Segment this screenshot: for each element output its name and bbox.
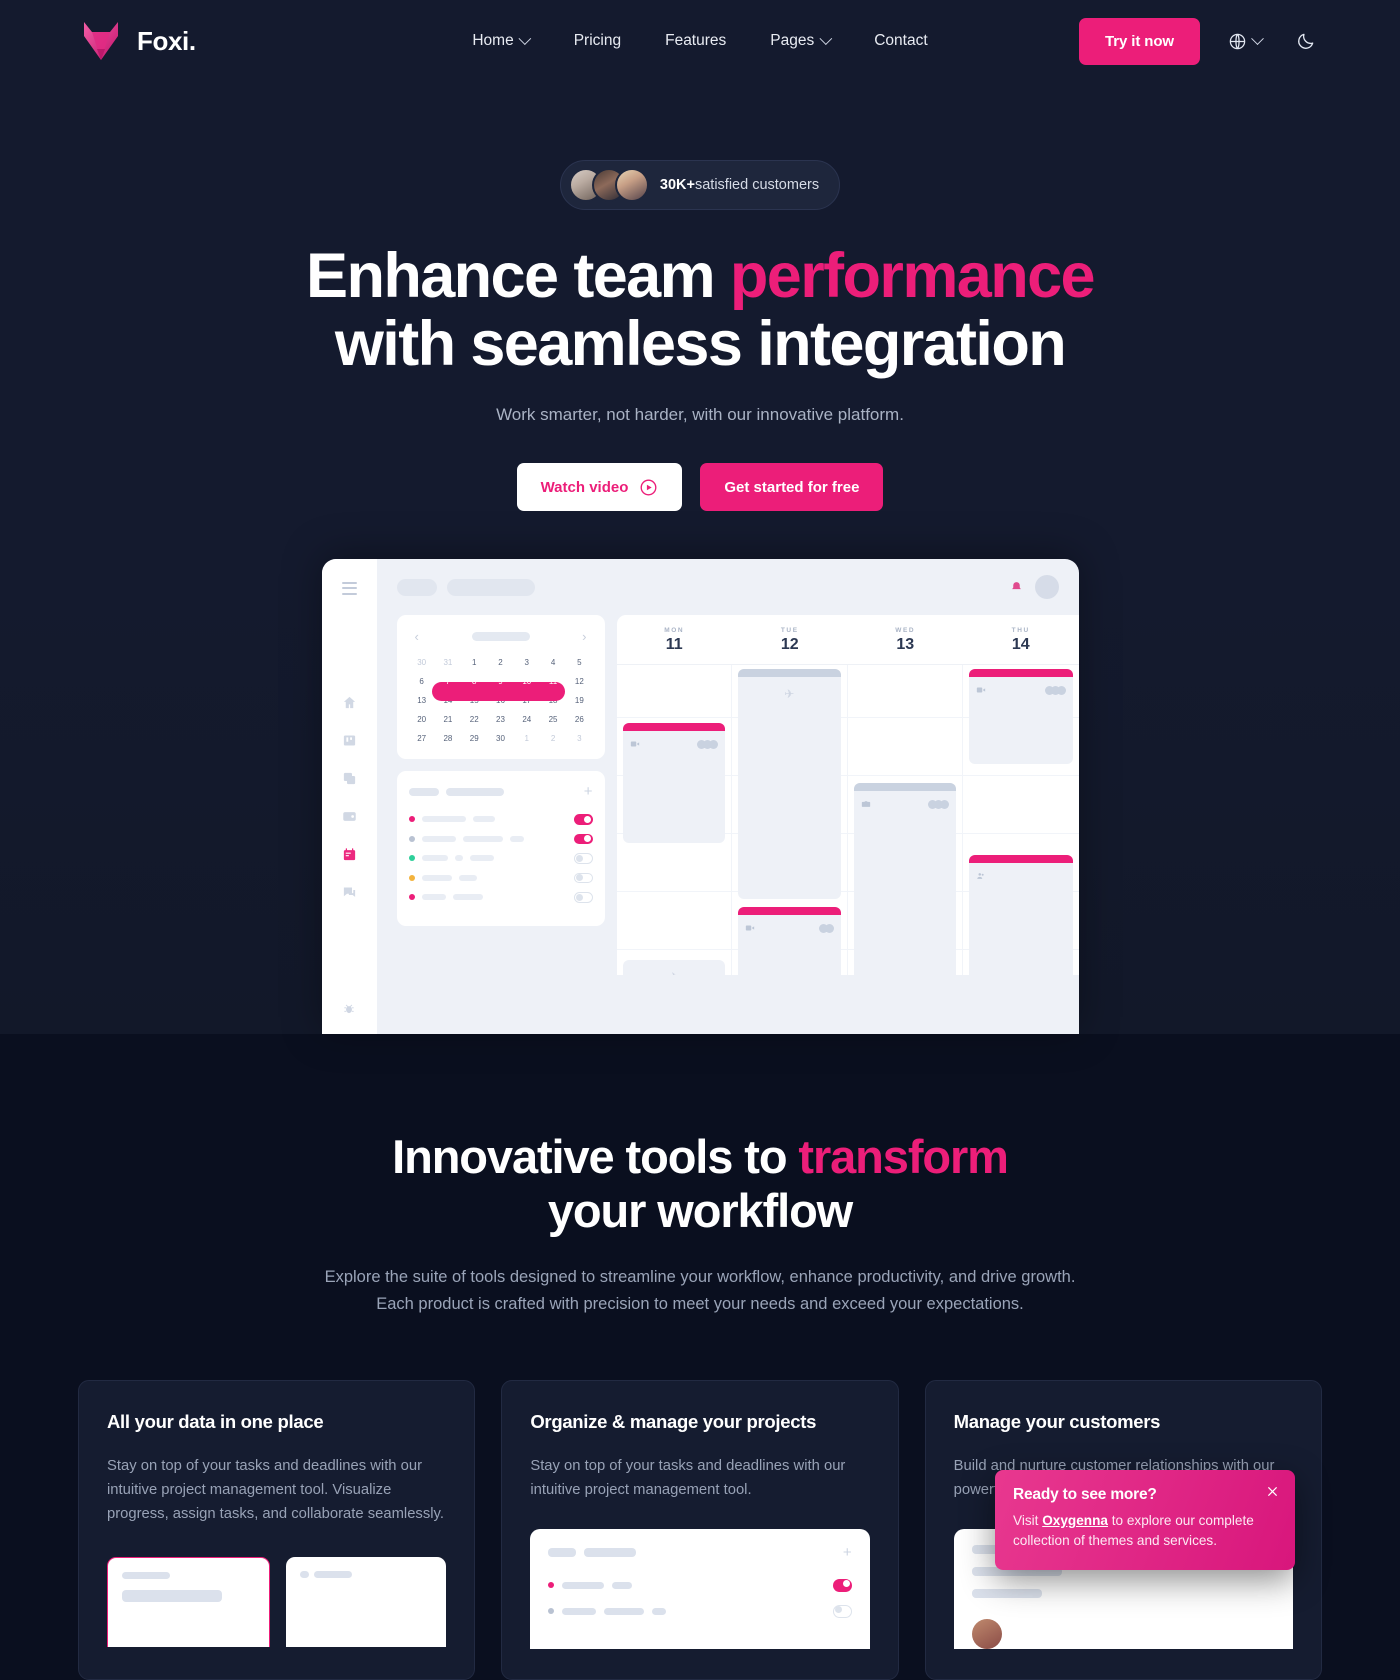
feature-card-mockup <box>107 1557 446 1647</box>
placeholder-pill <box>409 788 439 796</box>
week-day-number: 11 <box>617 636 733 654</box>
nav-item-features-label: Features <box>665 32 726 50</box>
nav-item-contact[interactable]: Contact <box>870 24 931 58</box>
week-day-header: MON11 <box>617 615 733 664</box>
hero-cta-row: Watch video Get started for free <box>0 463 1400 511</box>
task-row[interactable] <box>409 853 593 864</box>
task-row[interactable] <box>409 814 593 825</box>
event-card[interactable] <box>854 783 957 975</box>
calendar-day[interactable]: 7 <box>435 677 461 686</box>
task-placeholder-bar <box>463 836 503 842</box>
event-card[interactable]: ✈ <box>623 960 726 975</box>
calendar-month-placeholder <box>472 632 530 641</box>
moon-icon <box>1296 31 1316 51</box>
calendar-day[interactable]: 31 <box>435 658 461 667</box>
nav-links: Home Pricing Features Pages Contact <box>468 24 931 58</box>
week-day-header: WED13 <box>848 615 964 664</box>
wallet-icon[interactable] <box>342 809 357 824</box>
calendar-day[interactable]: 24 <box>514 715 540 724</box>
nav-right-actions: Try it now <box>1079 18 1322 65</box>
airplane-icon: ✈ <box>623 960 726 975</box>
task-placeholder-bar <box>422 875 452 881</box>
task-placeholder-bar <box>510 836 524 842</box>
calendar-day[interactable]: 13 <box>409 696 435 705</box>
calendar-day[interactable]: 3 <box>566 734 592 743</box>
features-subtitle-line1: Explore the suite of tools designed to s… <box>325 1268 1076 1286</box>
calendar-day[interactable]: 30 <box>409 658 435 667</box>
hero-title-accent: performance <box>730 241 1094 311</box>
hero-subtitle: Work smarter, not harder, with our innov… <box>0 405 1400 425</box>
close-popup-button[interactable] <box>1264 1483 1281 1504</box>
week-column-wed <box>848 665 964 975</box>
week-column-mon: ✈ <box>617 665 733 975</box>
calendar-day[interactable]: 6 <box>409 677 435 686</box>
feature-card-title: Organize & manage your projects <box>530 1411 869 1433</box>
features-section: Innovative tools to transform your workf… <box>0 1034 1400 1680</box>
promo-popup-body: Visit Oxygenna to explore our complete c… <box>1013 1511 1277 1552</box>
features-title-line2: your workflow <box>548 1184 852 1237</box>
mockup-week-schedule: MON11TUE12WED13THU14 <box>617 615 1079 975</box>
calendar-day[interactable]: 11 <box>540 677 566 686</box>
language-selector[interactable] <box>1222 26 1268 57</box>
avatar-group <box>569 168 649 202</box>
calendar-day[interactable]: 12 <box>566 677 592 686</box>
mockup-main: ‹ › 303112345678910111213141516171819202… <box>377 559 1079 1034</box>
week-day-header: THU14 <box>963 615 1079 664</box>
close-icon <box>1266 1485 1279 1498</box>
briefcase-icon <box>861 799 871 809</box>
task-status-dot <box>409 836 415 842</box>
nav-item-pricing[interactable]: Pricing <box>570 24 625 58</box>
promo-text-before: Visit <box>1013 1513 1042 1528</box>
chevron-down-icon <box>519 32 532 45</box>
promo-popup-title: Ready to see more? <box>1013 1486 1277 1504</box>
task-row[interactable] <box>409 834 593 845</box>
features-subtitle: Explore the suite of tools designed to s… <box>280 1264 1120 1317</box>
placeholder-pill <box>397 579 437 596</box>
placeholder-pill <box>446 788 504 796</box>
calendar-day[interactable]: 29 <box>461 734 487 743</box>
chat-icon[interactable] <box>342 885 357 900</box>
calendar-day[interactable]: 1 <box>461 658 487 667</box>
week-grid: ✈ ✈ <box>617 665 1079 975</box>
task-toggle[interactable] <box>574 814 593 825</box>
play-circle-icon <box>639 478 658 497</box>
calendar-day[interactable]: 1 <box>514 734 540 743</box>
week-column-tue: ✈ <box>732 665 848 975</box>
add-task-icon[interactable]: + <box>584 784 593 799</box>
event-card[interactable] <box>969 855 1073 975</box>
calendar-header: ‹ › <box>409 629 593 658</box>
mockup-calendar: ‹ › 303112345678910111213141516171819202… <box>397 615 605 759</box>
mockup-topbar <box>377 559 1079 615</box>
features-title-accent: transform <box>798 1130 1007 1183</box>
nav-item-features[interactable]: Features <box>661 24 730 58</box>
calendar-day[interactable]: 25 <box>540 715 566 724</box>
week-column-thu <box>963 665 1079 975</box>
customer-avatar <box>972 1619 1002 1649</box>
video-icon <box>976 685 986 695</box>
nav-item-pricing-label: Pricing <box>574 32 621 50</box>
calendar-day[interactable]: 3 <box>514 658 540 667</box>
feature-card-body: Stay on top of your tasks and deadlines … <box>107 1455 446 1527</box>
kanban-icon[interactable] <box>342 733 357 748</box>
airplane-icon: ✈ <box>738 677 841 711</box>
mockup-body: ‹ › 303112345678910111213141516171819202… <box>377 615 1079 975</box>
task-placeholder-bar <box>470 855 494 861</box>
calendar-day[interactable]: 2 <box>540 734 566 743</box>
task-placeholder-bar <box>422 836 456 842</box>
calendar-day[interactable]: 21 <box>435 715 461 724</box>
task-toggle[interactable] <box>574 853 593 864</box>
oxygenna-link[interactable]: Oxygenna <box>1042 1513 1108 1528</box>
week-header: MON11TUE12WED13THU14 <box>617 615 1079 665</box>
task-status-dot <box>409 875 415 881</box>
customer-label: satisfied customers <box>695 177 819 193</box>
mockup-left-column: ‹ › 303112345678910111213141516171819202… <box>397 615 605 975</box>
mockup-panel <box>286 1557 447 1647</box>
get-started-button[interactable]: Get started for free <box>700 463 883 511</box>
theme-toggle-button[interactable] <box>1290 25 1322 57</box>
week-day-number: 13 <box>848 636 964 654</box>
chevron-down-icon <box>1251 32 1264 45</box>
user-avatar[interactable] <box>1035 575 1059 599</box>
watch-video-button[interactable]: Watch video <box>517 463 683 511</box>
event-card[interactable] <box>969 669 1073 764</box>
hero-title-line2: with seamless integration <box>335 309 1065 379</box>
week-day-name: THU <box>963 627 1079 634</box>
calendar-next-icon[interactable]: › <box>582 629 586 644</box>
task-placeholder-bar <box>473 816 495 822</box>
hero-title-line1-plain: Enhance team <box>306 241 730 311</box>
week-day-name: MON <box>617 627 733 634</box>
calendar-day[interactable]: 28 <box>435 734 461 743</box>
nav-item-home[interactable]: Home <box>468 24 533 58</box>
feature-card-data[interactable]: All your data in one place Stay on top o… <box>78 1380 475 1680</box>
calendar-prev-icon[interactable]: ‹ <box>415 629 419 644</box>
event-card[interactable]: ✈ <box>738 669 841 899</box>
calendar-day[interactable]: 27 <box>409 734 435 743</box>
feature-card-body: Stay on top of your tasks and deadlines … <box>530 1455 869 1503</box>
video-icon <box>630 739 640 749</box>
badge-text: 30K+satisfied customers <box>660 177 819 193</box>
task-placeholder-bar <box>459 875 477 881</box>
users-icon <box>976 871 986 881</box>
calendar-day[interactable]: 19 <box>566 696 592 705</box>
task-placeholder-bar <box>422 816 466 822</box>
customer-count: 30K+ <box>660 177 695 193</box>
features-title-plain: Innovative tools to <box>392 1130 798 1183</box>
globe-icon <box>1228 32 1247 51</box>
add-icon[interactable]: + <box>843 1545 852 1560</box>
main-navbar: Foxi. Home Pricing Features Pages Contac… <box>0 0 1400 82</box>
calendar-day[interactable]: 8 <box>461 677 487 686</box>
calendar-day[interactable]: 4 <box>540 658 566 667</box>
avatar <box>615 168 649 202</box>
hero-content: 30K+satisfied customers Enhance team per… <box>0 82 1400 1034</box>
task-toggle[interactable] <box>574 834 593 845</box>
calendar-day[interactable]: 22 <box>461 715 487 724</box>
fox-head-icon <box>78 18 124 64</box>
task-list-header: + <box>409 784 593 799</box>
nav-item-pages-label: Pages <box>770 32 814 50</box>
social-proof-badge: 30K+satisfied customers <box>560 160 840 210</box>
event-card[interactable] <box>623 723 726 843</box>
week-day-header: TUE12 <box>732 615 848 664</box>
feature-card-title: Manage your customers <box>954 1411 1293 1433</box>
watch-video-label: Watch video <box>541 479 629 496</box>
dashboard-mockup: ‹ › 303112345678910111213141516171819202… <box>322 559 1079 1034</box>
promo-popup: Ready to see more? Visit Oxygenna to exp… <box>995 1470 1295 1570</box>
calendar-day[interactable]: 26 <box>566 715 592 724</box>
features-subtitle-line2: Each product is crafted with precision t… <box>376 1295 1024 1313</box>
task-status-dot <box>409 855 415 861</box>
calendar-day[interactable]: 10 <box>514 677 540 686</box>
hamburger-icon[interactable] <box>342 582 357 595</box>
nav-item-pages[interactable]: Pages <box>766 24 834 58</box>
task-placeholder-bar <box>453 894 483 900</box>
nav-item-home-label: Home <box>472 32 513 50</box>
calendar-grid: 3031123456789101112131415161718192021222… <box>409 658 593 743</box>
chevron-down-icon <box>819 32 832 45</box>
video-icon <box>745 923 755 933</box>
features-title: Innovative tools to transform your workf… <box>0 1130 1400 1238</box>
task-status-dot <box>409 894 415 900</box>
task-status-dot <box>409 816 415 822</box>
notification-icon[interactable] <box>1010 581 1023 594</box>
hero-title: Enhance team performance with seamless i… <box>0 242 1400 378</box>
week-day-name: TUE <box>732 627 848 634</box>
mockup-panel-active <box>107 1557 270 1647</box>
calendar-day[interactable]: 5 <box>566 658 592 667</box>
copy-icon[interactable] <box>342 771 357 786</box>
week-day-name: WED <box>848 627 964 634</box>
feature-card-title: All your data in one place <box>107 1411 446 1433</box>
feature-card-mockup: + <box>530 1529 869 1649</box>
try-it-now-button[interactable]: Try it now <box>1079 18 1200 65</box>
week-day-number: 14 <box>963 636 1079 654</box>
task-row[interactable] <box>409 873 593 884</box>
feature-card-projects[interactable]: Organize & manage your projects Stay on … <box>501 1380 898 1680</box>
task-toggle[interactable] <box>574 892 593 903</box>
calendar-day[interactable]: 2 <box>487 658 513 667</box>
event-card[interactable] <box>738 907 841 975</box>
mockup-task-list: + <box>397 771 605 926</box>
calendar-day[interactable]: 20 <box>409 715 435 724</box>
task-placeholder-bar <box>422 894 446 900</box>
calendar-icon[interactable] <box>342 847 357 862</box>
brand-name: Foxi. <box>137 26 196 57</box>
week-day-number: 12 <box>732 636 848 654</box>
task-placeholder-bar <box>422 855 448 861</box>
calendar-day[interactable]: 23 <box>487 715 513 724</box>
hero-section: Foxi. Home Pricing Features Pages Contac… <box>0 0 1400 1034</box>
mockup-topbar-right <box>1010 575 1059 599</box>
home-icon[interactable] <box>342 695 357 710</box>
placeholder-pill <box>447 579 535 596</box>
nav-item-contact-label: Contact <box>874 32 927 50</box>
task-toggle[interactable] <box>574 873 593 884</box>
brand-logo[interactable]: Foxi. <box>78 18 196 64</box>
calendar-day[interactable]: 30 <box>487 734 513 743</box>
task-row[interactable] <box>409 892 593 903</box>
calendar-day[interactable]: 9 <box>487 677 513 686</box>
mockup-sidebar <box>322 559 377 1034</box>
bug-icon[interactable] <box>342 1002 356 1016</box>
task-rows <box>409 814 593 903</box>
task-placeholder-bar <box>455 855 463 861</box>
